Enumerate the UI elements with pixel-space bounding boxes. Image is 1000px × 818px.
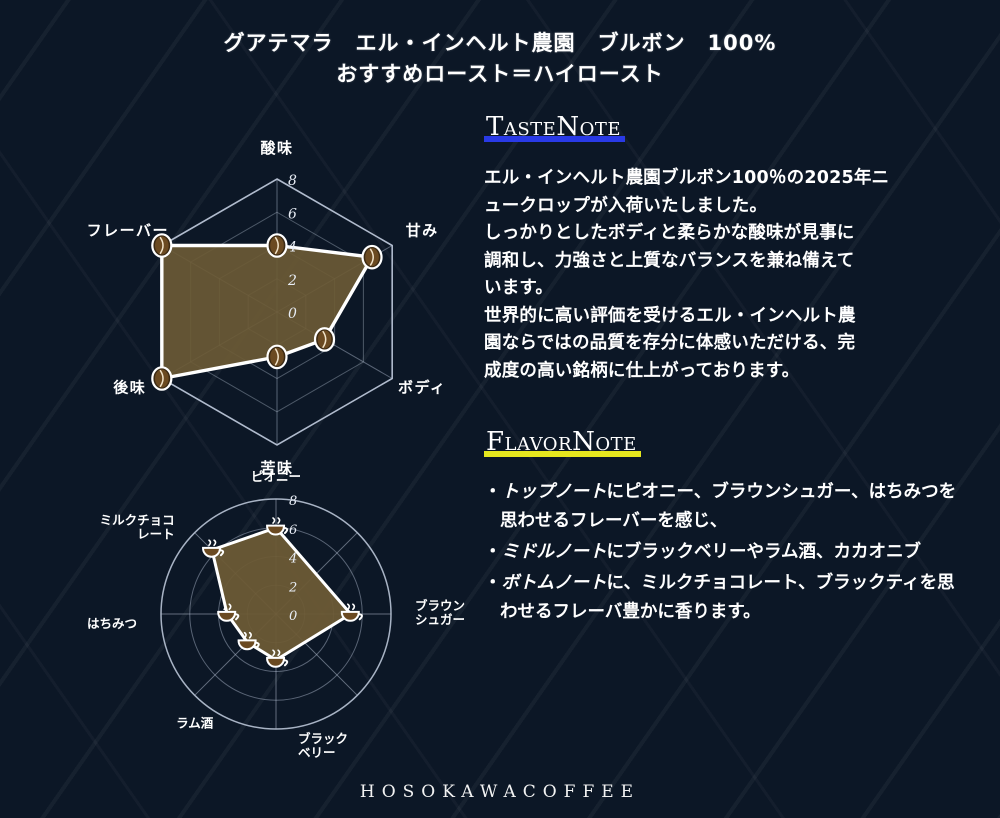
taste-radar-svg: 86420酸味甘みボディ苦味後味フレーバー: [72, 112, 482, 452]
axis-label-2: ブラウンシュガー: [415, 598, 465, 627]
axis-label-5: フレーバー: [87, 222, 169, 240]
coffee-bean-icon: [268, 346, 287, 368]
flavor-bullet: ・: [484, 573, 502, 593]
flavor-note-list: ・トップノートにピオニー、ブラウンシュガー、はちみつを思わせるフレーバーを感じ、…: [484, 478, 964, 627]
flavor-radar-svg: 86420ピオニーブラウンシュガーブラックベリーラム酒はちみつミルクチョコレート: [76, 462, 486, 762]
product-title-line-2: おすすめロースト＝ハイロースト: [0, 59, 1000, 90]
axis-tick: 6: [288, 206, 297, 222]
coffee-bean-icon: [268, 234, 287, 256]
taste-note-line: 成度の高い銘柄に仕上がっております。: [484, 358, 964, 386]
flavor-note-strong: ボトムノート: [502, 573, 607, 593]
axis-tick: 0: [289, 609, 297, 624]
flavor-note-item: ・ミドルノートにブラックベリーやラム酒、カカオニブ: [484, 538, 964, 567]
notes-column: TasteNote エル・インヘルト農園ブルボン100％の2025年ニュークロッ…: [484, 112, 964, 643]
axis-label-5: ラム酒: [176, 715, 214, 730]
coffee-bean-icon: [315, 328, 334, 350]
axis-tick: 4: [287, 240, 297, 256]
product-title-line-1: グアテマラ エル・インヘルト農園 ブルボン 100%: [0, 28, 1000, 59]
axis-tick: 2: [288, 580, 297, 595]
flavor-note-strong: ミドルノート: [502, 542, 607, 562]
flavor-note-item: ・ボトムノートに、ミルクチョコレート、ブラックティを思わせるフレーバ豊かに香りま…: [484, 569, 964, 627]
axis-label-4: ブラックベリー: [298, 731, 348, 760]
axis-label-1: 甘み: [406, 222, 439, 240]
axis-label-0: ピオニー: [251, 469, 301, 484]
taste-note-line: 世界的に高い評価を受けるエル・インヘルト農: [484, 303, 964, 331]
brand-footer: HOSOKAWACOFFEE: [0, 782, 1000, 802]
taste-note-line: エル・インヘルト農園ブルボン100％の2025年ニ: [484, 165, 964, 193]
axis-label-4: 後味: [112, 379, 146, 397]
flavor-bullet: ・: [484, 482, 502, 502]
axis-tick: 8: [288, 173, 297, 189]
axis-label-6: はちみつ: [87, 616, 137, 631]
taste-note-line: います。: [484, 275, 964, 303]
taste-radar-chart: 86420酸味甘みボディ苦味後味フレーバー: [72, 112, 482, 452]
axis-tick: 0: [288, 306, 297, 322]
flavor-bullet: ・: [484, 542, 502, 562]
taste-note-heading-label: TasteNote: [486, 112, 621, 142]
page-title: グアテマラ エル・インヘルト農園 ブルボン 100% おすすめロースト＝ハイロー…: [0, 28, 1000, 90]
coffee-bean-icon: [363, 246, 382, 268]
taste-note-line: 調和し、力強さと上質なバランスを兼ね備えて: [484, 248, 964, 276]
flavor-note-heading: FlavorNote: [484, 427, 641, 458]
axis-tick: 6: [289, 523, 297, 538]
taste-note-line: ュークロップが入荷いたしました。: [484, 193, 964, 221]
flavor-note-heading-label: FlavorNote: [486, 427, 637, 457]
axis-label-2: ボディ: [398, 379, 446, 397]
taste-note-body: エル・インヘルト農園ブルボン100％の2025年ニュークロップが入荷いたしました…: [484, 165, 964, 385]
axis-tick: 2: [287, 273, 297, 289]
coffee-bean-icon: [152, 367, 171, 389]
taste-note-line: 園ならではの品質を存分に体感いただける、完: [484, 330, 964, 358]
flavor-radar-chart: 86420ピオニーブラウンシュガーブラックベリーラム酒はちみつミルクチョコレート: [76, 462, 486, 762]
axis-tick: 4: [288, 552, 297, 567]
flavor-note-item: ・トップノートにピオニー、ブラウンシュガー、はちみつを思わせるフレーバーを感じ、: [484, 478, 964, 536]
flavor-note-rest: にブラックベリーやラム酒、カカオニブ: [607, 542, 921, 562]
data-polygon: [212, 528, 351, 660]
taste-note-line: しっかりとしたボディと柔らかな酸味が見事に: [484, 220, 964, 248]
axis-tick: 8: [289, 494, 297, 509]
axis-label-0: 酸味: [260, 139, 293, 157]
flavor-note-strong: トップノート: [502, 482, 607, 502]
axis-label-7: ミルクチョコレート: [100, 513, 175, 542]
coffee-cup-icon: [267, 518, 287, 535]
taste-note-heading: TasteNote: [484, 112, 625, 143]
